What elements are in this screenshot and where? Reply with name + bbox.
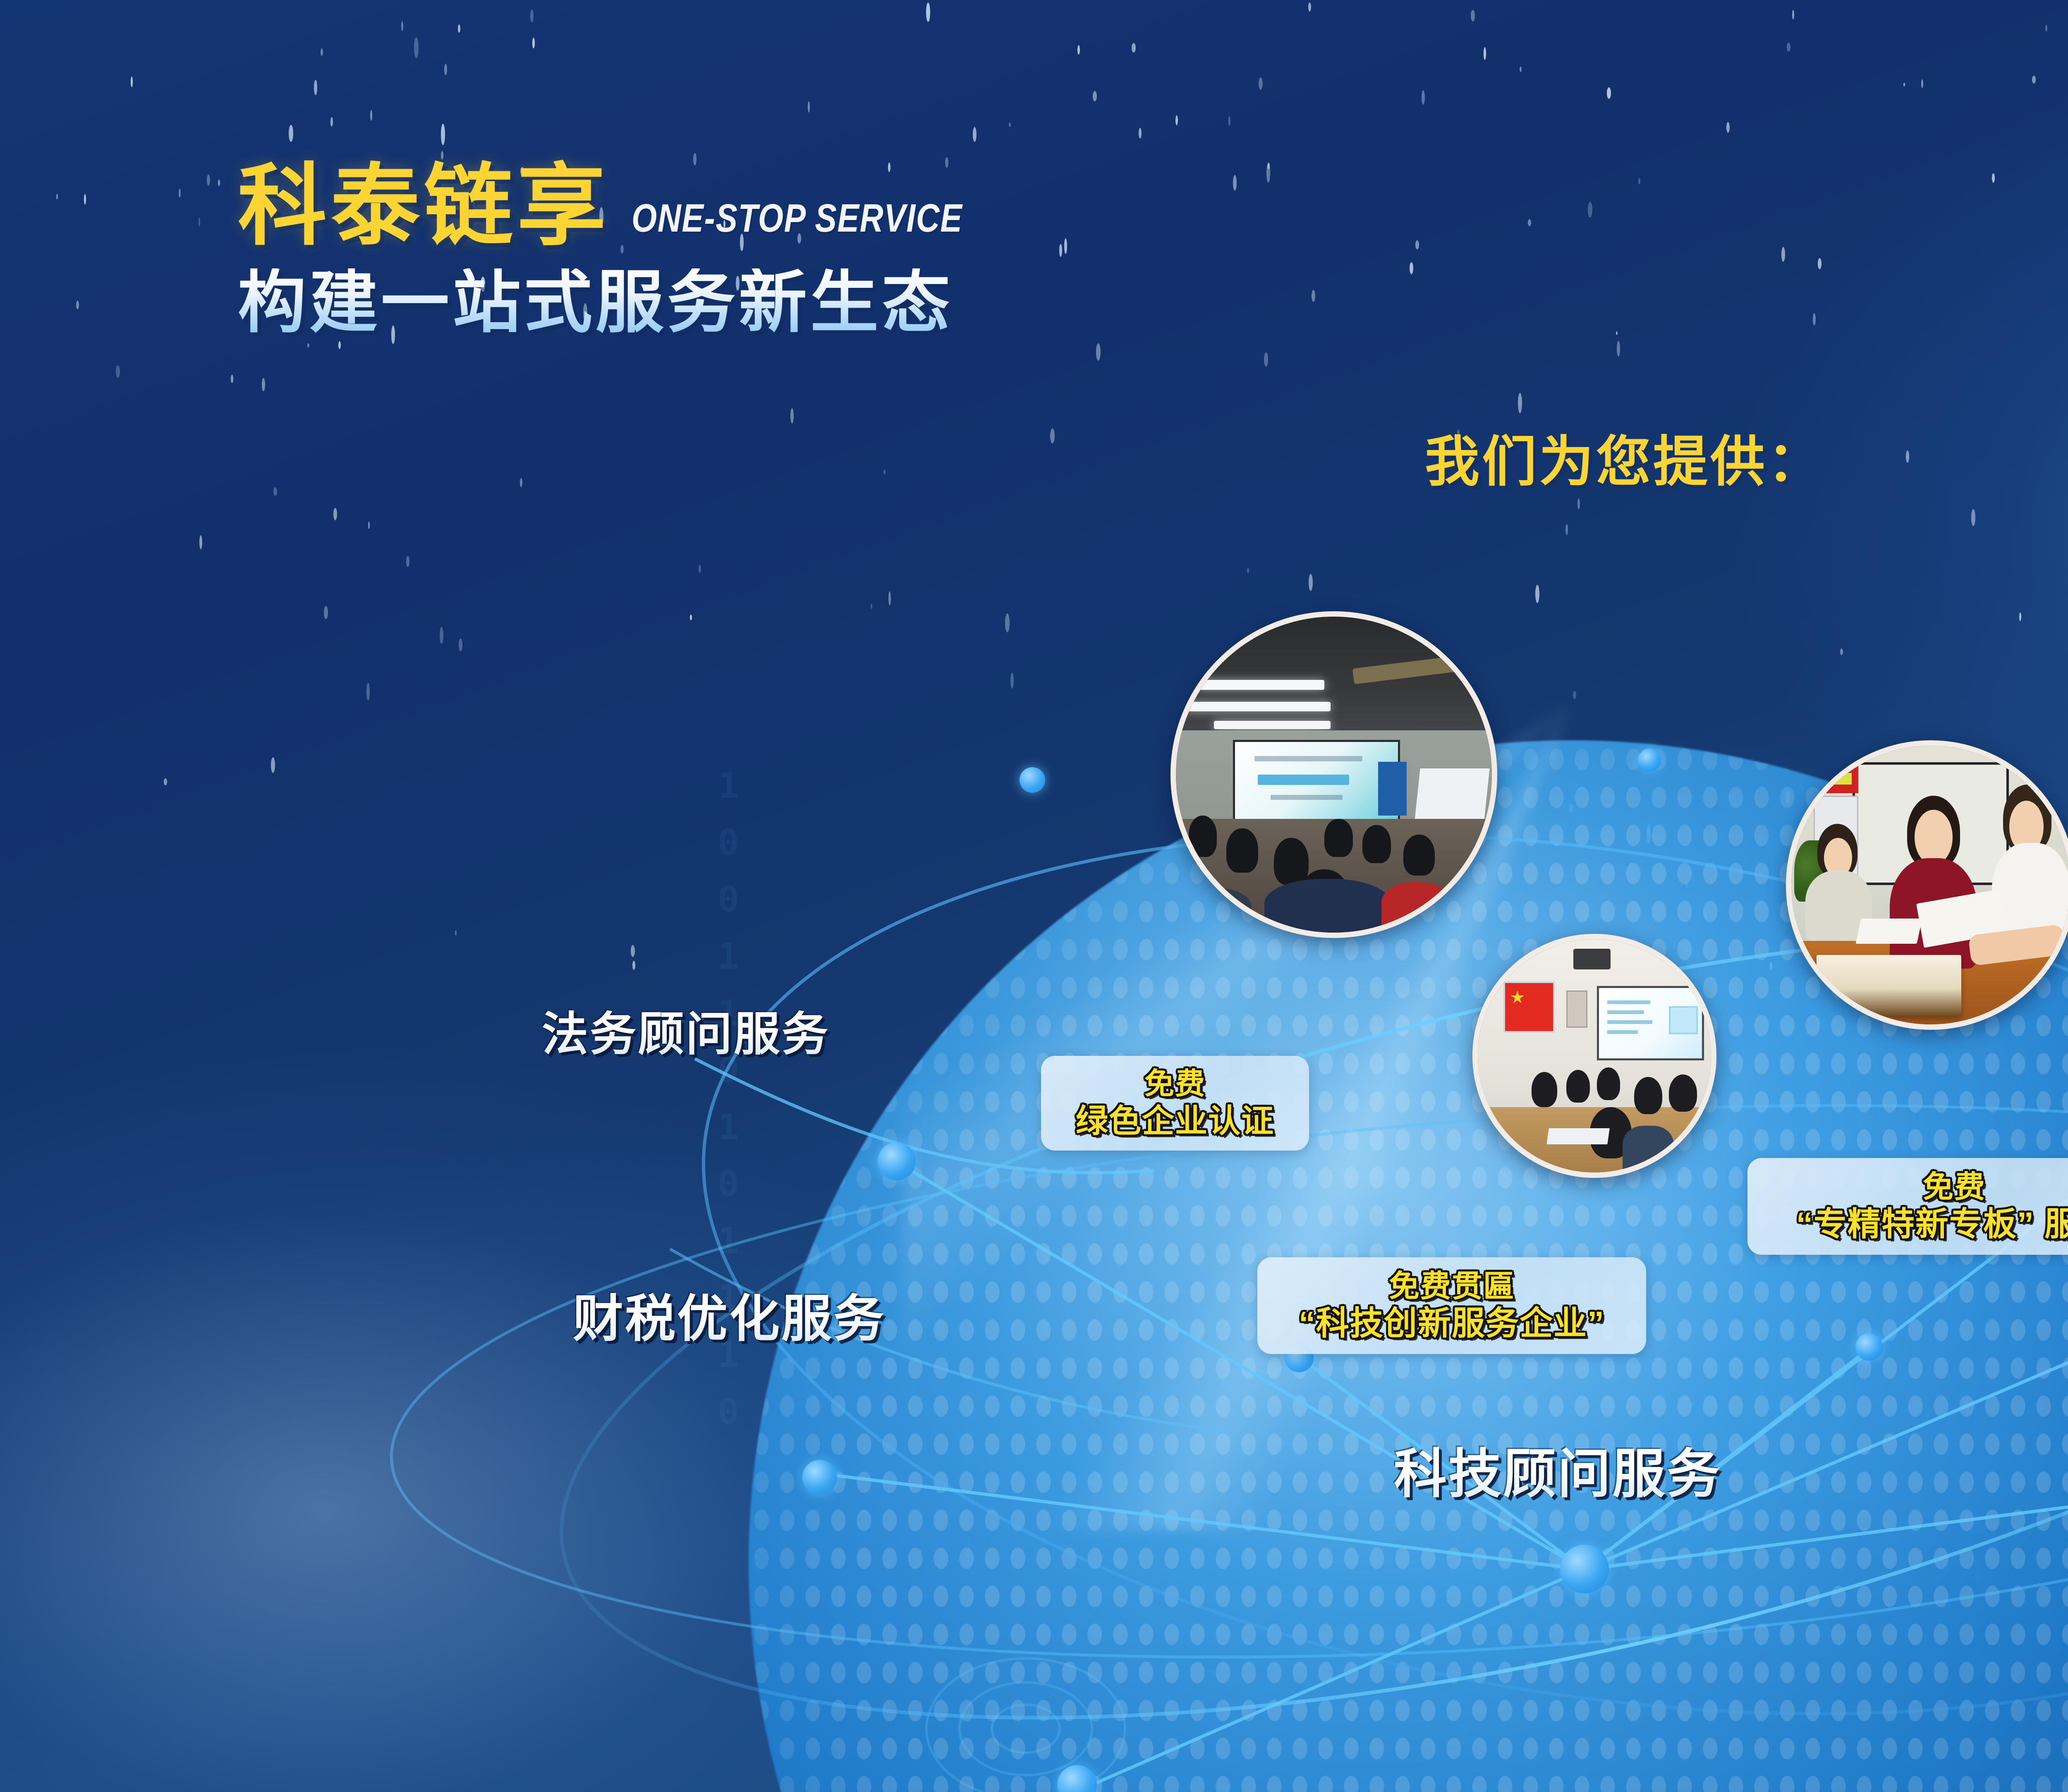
star: [532, 38, 535, 48]
star: [973, 127, 977, 142]
star: [530, 10, 534, 22]
star: [1093, 91, 1097, 101]
star: [1792, 10, 1794, 19]
star: [1264, 352, 1268, 366]
star: [199, 218, 200, 227]
audience-head: [1362, 825, 1391, 863]
star: [1415, 240, 1419, 249]
star: [1520, 67, 1522, 72]
binary-digit: 0: [718, 1163, 739, 1205]
binary-digit: 1: [718, 1220, 739, 1262]
star: [888, 591, 891, 605]
badge-line-2: “专精特新专板” 服务: [1796, 1205, 2068, 1244]
ceiling: [1176, 617, 1492, 737]
star: [1139, 128, 1142, 139]
network-node: [1638, 749, 1661, 772]
brand-title-block: 科泰链享 ONE-STOP SERVICE 构建一站式服务新生态: [238, 161, 1035, 337]
audience-head: [1189, 816, 1217, 857]
wall-poster: [1378, 762, 1407, 816]
star: [1059, 244, 1062, 257]
brand-title-cn: 科泰链享: [238, 161, 610, 250]
brand-title-en: ONE-STOP SERVICE: [632, 196, 962, 250]
attendee-head: [1532, 1072, 1557, 1107]
screen-panel: [1669, 1006, 1698, 1034]
ceiling-light: [1185, 702, 1331, 711]
binary-digit: 1: [718, 765, 739, 806]
screen-text-line: [1607, 1030, 1638, 1034]
binary-digit: 0: [718, 1391, 739, 1433]
star: [1309, 574, 1313, 591]
face: [1915, 810, 1953, 865]
star: [84, 194, 86, 205]
star: [1422, 90, 1425, 105]
star: [324, 606, 328, 619]
star: [444, 64, 447, 75]
attendee-head: [1634, 1077, 1662, 1114]
star: [1518, 393, 1522, 413]
star: [1410, 262, 1413, 274]
open-ledger: [1817, 955, 1961, 1016]
badge-specialized[interactable]: 免费 “专精特新专板” 服务: [1747, 1158, 2068, 1255]
star: [1228, 116, 1230, 126]
star: [1921, 79, 1923, 88]
star: [314, 80, 317, 95]
star: [262, 378, 265, 391]
network-node: [802, 1460, 837, 1495]
star: [1617, 341, 1620, 356]
star: [883, 470, 886, 474]
presentation-screen: [1597, 986, 1704, 1060]
star: [871, 604, 872, 609]
photo-circle-meeting: [1472, 934, 1716, 1178]
star: [401, 21, 403, 31]
service-label-tax: 财税优化服务: [573, 1278, 886, 1351]
star: [406, 556, 409, 567]
star: [207, 175, 210, 186]
star: [271, 757, 275, 773]
audience-body: [1182, 888, 1252, 929]
led-sign-text: [1823, 773, 1852, 785]
star: [1005, 613, 1010, 632]
binary-digit: 0: [718, 879, 739, 920]
star: [1247, 568, 1249, 573]
binary-digit: 0: [718, 822, 739, 864]
star: [458, 24, 460, 33]
star: [338, 341, 341, 349]
wall-frame: [1566, 991, 1587, 1028]
star: [699, 565, 701, 573]
document-sheet: [1855, 919, 1922, 944]
star: [1787, 43, 1790, 52]
star: [1577, 498, 1580, 509]
star: [2045, 25, 2047, 31]
seminar-scene: [1176, 617, 1492, 933]
star: [76, 301, 79, 309]
star: [808, 101, 810, 112]
star: [289, 125, 293, 142]
star: [370, 110, 372, 121]
attendee-head: [1669, 1074, 1697, 1112]
star: [1484, 47, 1486, 60]
star: [368, 522, 370, 529]
star: [1096, 343, 1101, 361]
star: [1726, 122, 1730, 133]
star: [273, 487, 277, 496]
network-node: [1020, 767, 1045, 793]
star: [631, 945, 635, 957]
star: [1903, 83, 1905, 86]
national-flag: [1503, 981, 1555, 1033]
star: [1132, 43, 1136, 53]
star: [690, 615, 692, 620]
photo-circle-consultation: [1786, 740, 2068, 1030]
star: [218, 179, 220, 186]
star: [56, 194, 58, 199]
star: [2032, 76, 2036, 84]
star: [1266, 163, 1270, 183]
star: [1840, 648, 1843, 655]
star: [333, 508, 337, 520]
ceiling-light: [1198, 680, 1324, 690]
star: [1312, 290, 1315, 302]
badge-green-cert[interactable]: 免费 绿色企业认证: [1041, 1056, 1309, 1151]
badge-line-1: 免费: [1144, 1067, 1206, 1102]
brand-subtitle-cn: 构建一站式服务新生态: [238, 268, 1035, 337]
offer-heading: 我们为您提供：: [1425, 418, 1824, 497]
star: [1471, 10, 1475, 22]
star: [1781, 247, 1785, 262]
screen-text-line: [1271, 795, 1343, 799]
star: [1813, 313, 1816, 325]
star: [1588, 202, 1592, 218]
star: [199, 535, 202, 549]
star: [440, 627, 443, 644]
star: [307, 343, 309, 347]
star: [231, 375, 233, 383]
screen-text-line: [1607, 1000, 1651, 1004]
badge-line-2: “科技创新服务企业”: [1299, 1304, 1605, 1343]
star: [414, 37, 419, 58]
star: [926, 2, 930, 22]
star: [2019, 612, 2021, 621]
star: [441, 124, 445, 145]
star: [1010, 672, 1014, 689]
screen-text-line: [1607, 1020, 1653, 1024]
binary-digit: 1: [718, 1107, 739, 1148]
audience-head: [1403, 835, 1435, 876]
star: [321, 48, 323, 56]
audience-body: [1381, 882, 1451, 926]
audience-body: [1264, 879, 1391, 933]
screen-highlight-bar: [1258, 775, 1349, 785]
star: [131, 77, 133, 87]
badge-line-2: 绿色企业认证: [1076, 1102, 1274, 1140]
network-node: [1855, 1333, 1883, 1361]
star: [116, 365, 120, 378]
projector-screen: [1233, 740, 1400, 822]
star: [632, 961, 635, 970]
star: [520, 478, 522, 487]
attendee-head: [1597, 1067, 1620, 1100]
led-sign: [1817, 765, 1858, 793]
badge-innovation[interactable]: 免费贯匾 “科技创新服务企业”: [1257, 1257, 1646, 1354]
star: [790, 408, 794, 423]
attendee-body: [1623, 1126, 1674, 1172]
star: [1009, 122, 1011, 127]
projector-unit: [1573, 949, 1611, 970]
ceiling-light: [1214, 721, 1331, 729]
star: [1971, 509, 1975, 526]
star: [1818, 258, 1821, 269]
star: [1607, 87, 1611, 99]
star: [1050, 428, 1055, 443]
star: [1565, 524, 1568, 535]
document-stack: [1546, 1128, 1609, 1144]
star: [1233, 175, 1237, 191]
meeting-scene: [1478, 939, 1711, 1172]
audience-head: [1274, 838, 1309, 885]
star: [1268, 163, 1270, 169]
star: [1573, 691, 1576, 699]
badge-line-1: 免费贯匾: [1389, 1268, 1515, 1304]
screen-text-line: [1254, 756, 1362, 761]
star: [459, 639, 462, 651]
network-node-hub: [1560, 1545, 1609, 1593]
star: [1077, 45, 1080, 55]
star: [366, 683, 370, 701]
star: [164, 778, 167, 785]
screen-text-line: [1607, 1010, 1644, 1014]
star: [330, 117, 333, 127]
star: [1535, 585, 1539, 603]
binary-digit: 1: [718, 936, 739, 977]
audience-head: [1324, 819, 1353, 857]
attendee-head: [1566, 1070, 1589, 1103]
service-label-tech: 科技顾问服务: [1394, 1431, 1721, 1507]
banner-canvas: 1001101011101011010010111100011101010101…: [0, 0, 2068, 1792]
star: [1259, 77, 1263, 90]
star: [1175, 115, 1178, 125]
photo-circle-seminar: [1170, 611, 1497, 938]
audience-head: [1226, 828, 1258, 873]
star: [1308, 2, 1311, 12]
star: [1992, 173, 1995, 183]
consultation-scene: [1791, 746, 2068, 1024]
star: [1906, 450, 1909, 463]
star: [179, 189, 181, 198]
star: [1616, 331, 1618, 335]
badge-line-1: 免费: [1923, 1169, 1986, 1205]
star: [1064, 238, 1067, 254]
star: [1638, 178, 1640, 184]
star: [1528, 219, 1531, 226]
star: [455, 930, 457, 935]
service-label-legal: 法务顾问服务: [542, 997, 830, 1064]
network-node: [878, 1142, 916, 1180]
